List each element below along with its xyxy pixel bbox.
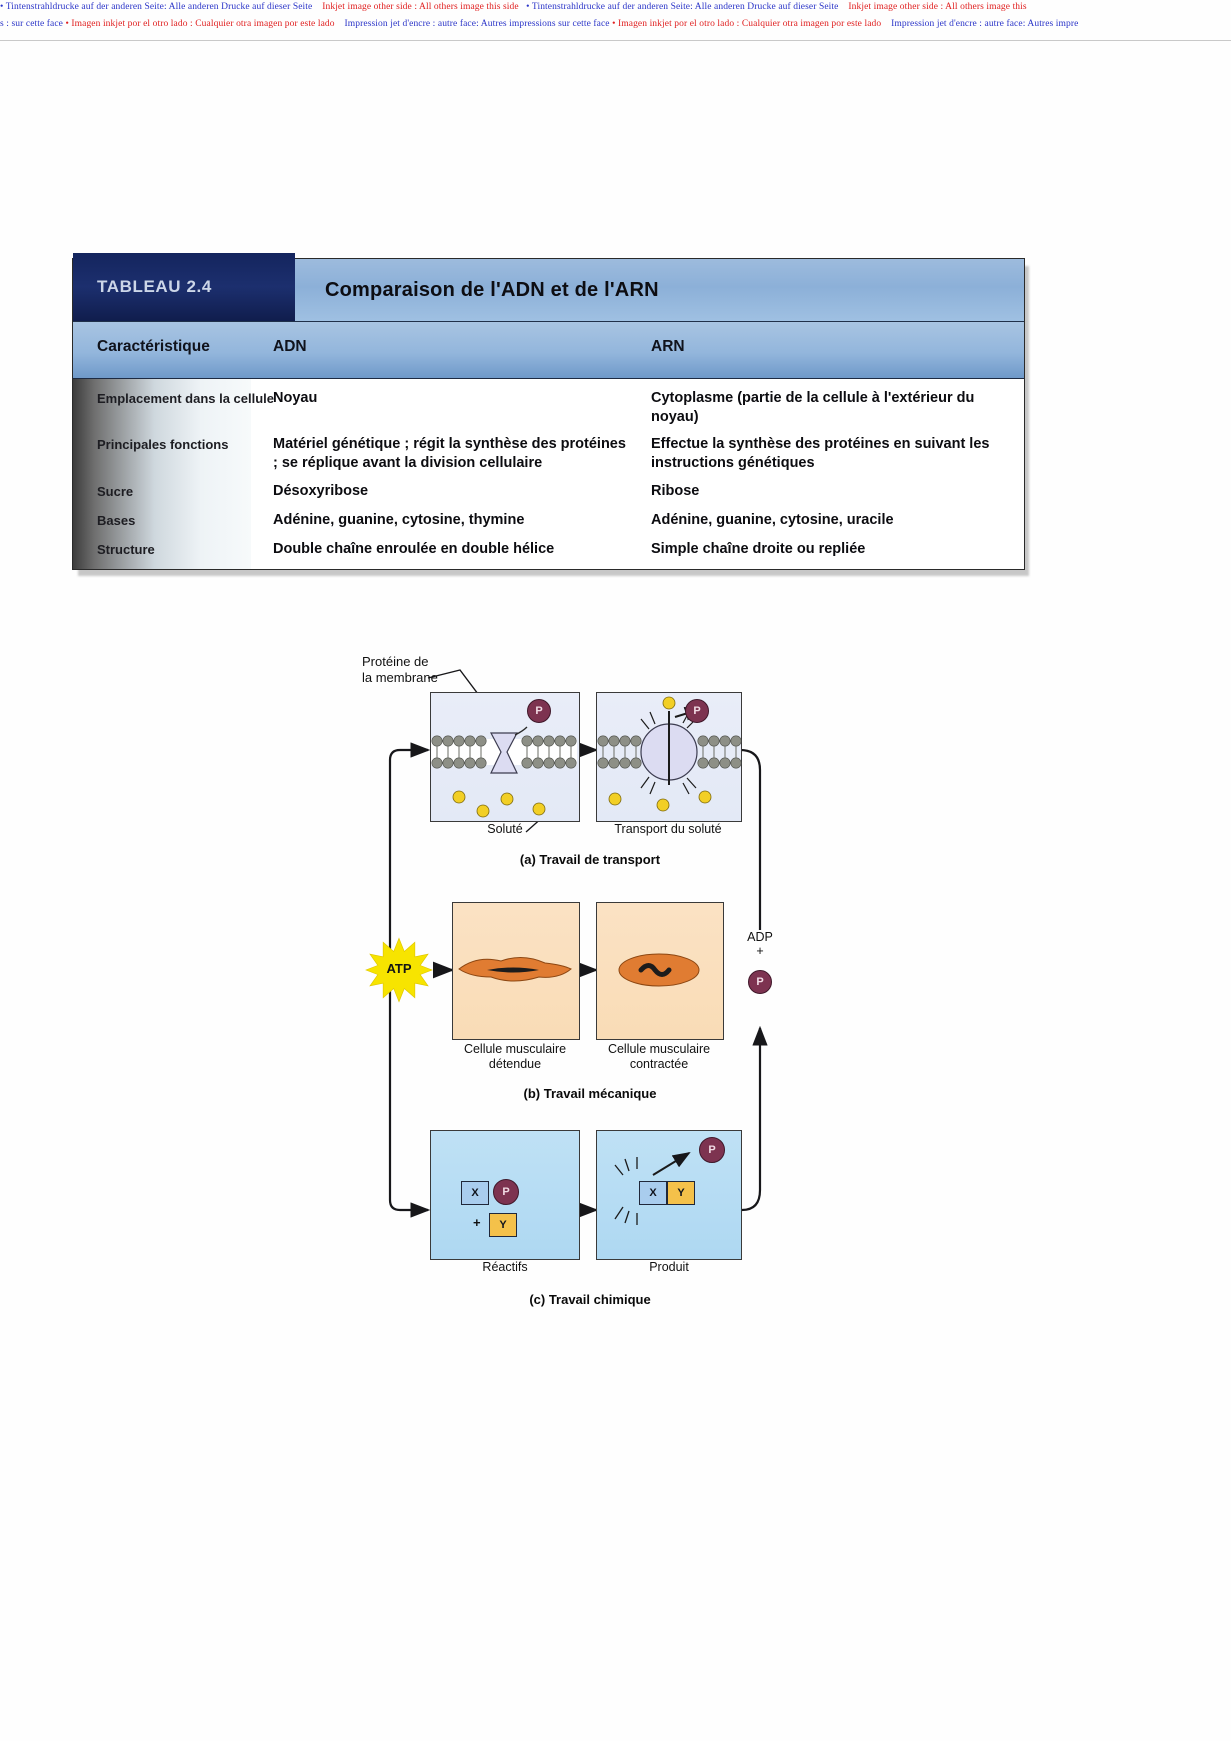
adp-plus-sign: +: [734, 944, 786, 958]
scan-text-fr-3: Impression jet d'encre : autre face: Aut…: [891, 19, 1078, 29]
row-label-bases: Bases: [97, 513, 135, 529]
panel-a-left: P: [430, 692, 580, 822]
panel-c-left: X P + Y: [430, 1130, 580, 1260]
scan-text-de-1: • Tintenstrahldrucke auf der anderen Sei…: [0, 2, 312, 12]
column-header-arn: ARN: [651, 338, 685, 356]
phosphate-circle-output: P: [748, 970, 772, 994]
panel-a-caption: (a) Travail de transport: [450, 852, 730, 867]
atp-label: ATP: [366, 961, 432, 976]
cell-arn-fonctions: Effectue la synthèse des protéines en su…: [651, 435, 1003, 473]
table-title-text: Comparaison de l'ADN et de l'ARN: [325, 279, 659, 302]
row-label-structure: Structure: [97, 542, 155, 558]
panel-b-left: [452, 902, 580, 1040]
cell-arn-emplacement: Cytoplasme (partie de la cellule à l'ext…: [651, 389, 1003, 427]
scan-text-en-2: Inkjet image other side : All others ima…: [848, 2, 1026, 12]
table-number-badge: TABLEAU 2.4: [73, 253, 295, 321]
molecule-y-box-reactants: Y: [489, 1213, 517, 1237]
membrane-transport-illustration-left: [431, 693, 577, 819]
panel-a-right-label: Transport du soluté: [598, 822, 738, 837]
table-row: Structure Double chaîne enroulée en doub…: [73, 542, 1024, 566]
adp-label: ADP: [734, 930, 786, 944]
scanned-page: • Tintenstrahldrucke auf der anderen Sei…: [0, 0, 1231, 1741]
column-header-adn: ADN: [273, 338, 307, 356]
cell-adn-sucre: Désoxyribose: [273, 482, 633, 501]
scan-divider-rule: [0, 40, 1231, 41]
contracted-muscle-cell-illustration: [597, 903, 721, 1037]
table-body: Emplacement dans la cellule Noyau Cytopl…: [73, 379, 1024, 569]
cell-adn-emplacement: Noyau: [273, 389, 633, 408]
scan-text-es-1: • Imagen inkjet por el otro lado : Cualq…: [65, 19, 334, 29]
row-label-emplacement: Emplacement dans la cellule: [97, 391, 274, 407]
table-column-header-row: Caractéristique ADN ARN: [73, 322, 1024, 379]
atp-work-diagram: ATP ADP + P Protéine de la membrane: [330, 630, 800, 1320]
cell-adn-bases: Adénine, guanine, cytosine, thymine: [273, 511, 633, 530]
scan-text-fr-1: s : sur cette face: [0, 19, 63, 29]
table-container: TABLEAU 2.4 Comparaison de l'ADN et de l…: [72, 258, 1025, 570]
scan-watermark-line-1: • Tintenstrahldrucke auf der anderen Sei…: [0, 2, 1231, 16]
atp-burst-icon: ATP: [366, 937, 432, 1003]
table-row: Bases Adénine, guanine, cytosine, thymin…: [73, 513, 1024, 537]
phosphate-circle-panel-a-right: P: [685, 699, 709, 723]
panel-c-right-label: Produit: [622, 1260, 716, 1275]
molecule-y-box-product: Y: [667, 1181, 695, 1205]
cell-arn-bases: Adénine, guanine, cytosine, uracile: [651, 511, 1003, 530]
scan-watermark-line-2: s : sur cette face • Imagen inkjet por e…: [0, 19, 1231, 33]
panel-b-caption: (b) Travail mécanique: [450, 1086, 730, 1101]
panel-b-left-label: Cellule musculaire détendue: [448, 1042, 582, 1072]
row-label-sucre: Sucre: [97, 484, 133, 500]
table-title: Comparaison de l'ADN et de l'ARN: [325, 259, 659, 321]
panel-a-left-label: Soluté: [450, 822, 560, 837]
molecule-x-box-product: X: [639, 1181, 667, 1205]
phosphate-circle-panel-a: P: [527, 699, 551, 723]
membrane-protein-leader-label: Protéine de la membrane: [362, 654, 438, 686]
cell-adn-fonctions: Matériel génétique ; régit la synthèse d…: [273, 435, 633, 473]
cell-arn-structure: Simple chaîne droite ou repliée: [651, 540, 1003, 559]
scan-text-de-2: • Tintenstrahldrucke auf der anderen Sei…: [526, 2, 838, 12]
row-label-fonctions: Principales fonctions: [97, 437, 228, 453]
phosphate-circle-reactants: P: [493, 1179, 519, 1205]
table-figure: TABLEAU 2.4 Comparaison de l'ADN et de l…: [72, 258, 1029, 576]
table-row: Emplacement dans la cellule Noyau Cytopl…: [73, 391, 1024, 429]
phosphate-circle-product: P: [699, 1137, 725, 1163]
scan-text-es-2: • Imagen inkjet por el otro lado : Cualq…: [612, 19, 881, 29]
table-title-row: TABLEAU 2.4 Comparaison de l'ADN et de l…: [73, 259, 1024, 322]
scan-text-en-1: Inkjet image other side : All others ima…: [322, 2, 518, 12]
table-row: Principales fonctions Matériel génétique…: [73, 437, 1024, 479]
molecule-x-box-reactants: X: [461, 1181, 489, 1205]
table-row: Sucre Désoxyribose Ribose: [73, 484, 1024, 508]
cell-arn-sucre: Ribose: [651, 482, 1003, 501]
panel-b-right-label: Cellule musculaire contractée: [592, 1042, 726, 1072]
column-header-characteristic: Caractéristique: [97, 338, 210, 356]
membrane-transport-illustration-right: [597, 693, 739, 819]
panel-c-left-label: Réactifs: [458, 1260, 552, 1275]
relaxed-muscle-cell-illustration: [453, 903, 577, 1037]
reactants-plus-sign: +: [473, 1215, 481, 1230]
scan-text-fr-2: Impression jet d'encre : autre face: Aut…: [345, 19, 610, 29]
panel-c-right: X Y P: [596, 1130, 742, 1260]
cell-adn-structure: Double chaîne enroulée en double hélice: [273, 540, 633, 559]
panel-b-right: [596, 902, 724, 1040]
panel-c-caption: (c) Travail chimique: [450, 1292, 730, 1307]
panel-a-right: P: [596, 692, 742, 822]
adp-output-label: ADP +: [734, 930, 786, 958]
table-number-label: TABLEAU 2.4: [97, 277, 212, 297]
